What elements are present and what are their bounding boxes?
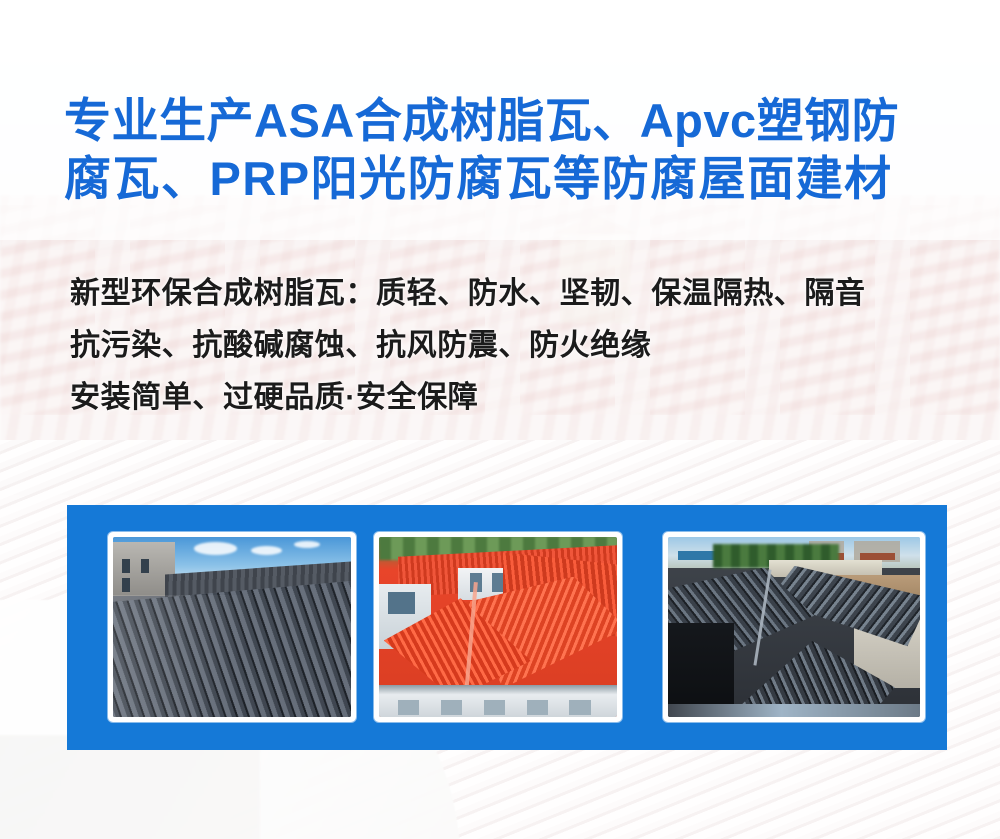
headline-line-2: 腐瓦、PRP阳光防腐瓦等防腐屋面建材 xyxy=(64,150,944,208)
photo3-bottom-strip xyxy=(668,704,920,717)
photo2-parapet xyxy=(379,685,617,717)
photo-gallery-panel xyxy=(67,505,947,750)
photo1-cloud xyxy=(194,542,237,555)
photo1-highlight xyxy=(113,595,351,717)
photo-gray-tile-roof xyxy=(113,537,351,717)
photo-red-tile-roof xyxy=(379,537,617,717)
gallery-photo-2-frame[interactable] xyxy=(374,532,622,722)
feature-line-1: 新型环保合成树脂瓦：质轻、防水、坚韧、保温隔热、隔音 xyxy=(70,268,970,320)
photo-dark-tile-roof xyxy=(668,537,920,717)
gallery-photo-3-frame[interactable] xyxy=(663,532,925,722)
promo-banner: 专业生产ASA合成树脂瓦、Apvc塑钢防 腐瓦、PRP阳光防腐瓦等防腐屋面建材 … xyxy=(0,0,1000,839)
headline-line-1: 专业生产ASA合成树脂瓦、Apvc塑钢防 xyxy=(64,92,944,150)
photo3-red-roof xyxy=(860,553,895,560)
photo1-cloud xyxy=(294,541,320,548)
page-title: 专业生产ASA合成树脂瓦、Apvc塑钢防 腐瓦、PRP阳光防腐瓦等防腐屋面建材 xyxy=(64,92,944,208)
feature-line-2: 抗污染、抗酸碱腐蚀、抗风防震、防火绝缘 xyxy=(70,320,970,372)
photo-gallery-list xyxy=(67,505,947,750)
feature-line-3: 安装简单、过硬品质·安全保障 xyxy=(70,372,970,424)
feature-text-block: 新型环保合成树脂瓦：质轻、防水、坚韧、保温隔热、隔音 抗污染、抗酸碱腐蚀、抗风防… xyxy=(70,268,970,424)
gallery-photo-1-frame[interactable] xyxy=(108,532,356,722)
photo3-shadow xyxy=(668,623,734,709)
photo1-cloud xyxy=(251,546,282,555)
